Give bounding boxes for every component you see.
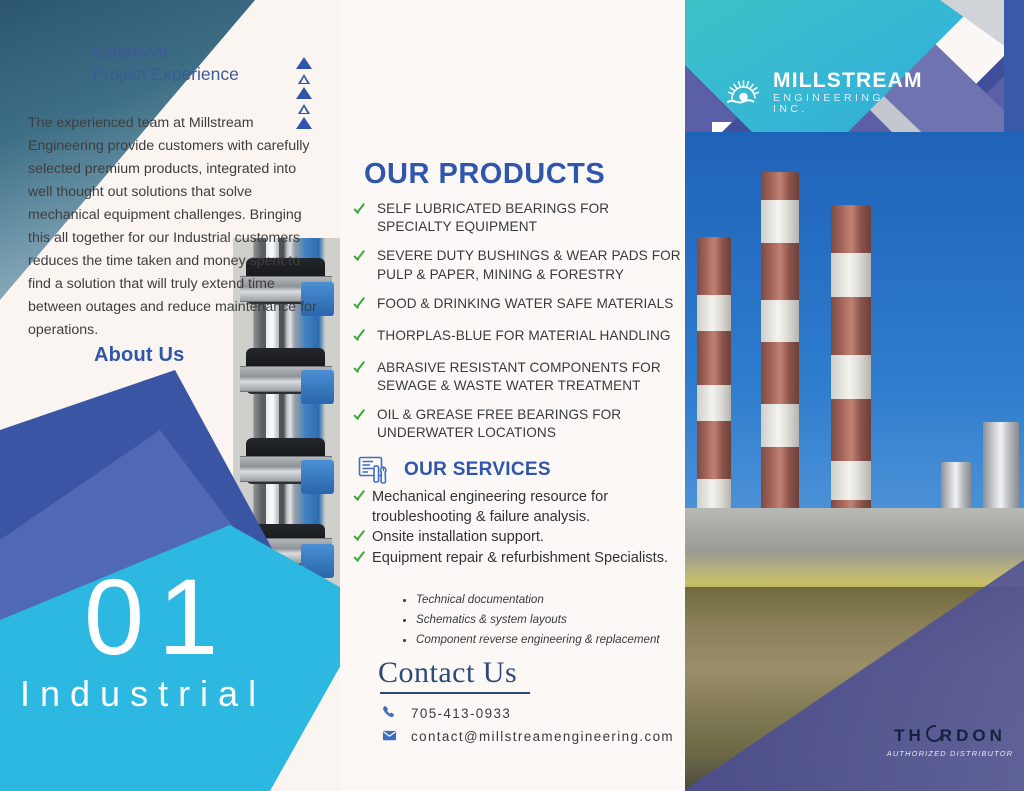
thordon-logo: TH RDON AUTHORIZED DISTRIBUTOR [886, 726, 1014, 758]
our-products-heading: OUR PRODUCTS [364, 158, 605, 191]
list-item: SEVERE DUTY BUSHINGS & WEAR PADS FOR PUL… [352, 247, 687, 283]
partner-name: TH RDON [886, 726, 1014, 746]
triangle-filled-icon [296, 117, 312, 129]
product-label: THORPLAS-BLUE FOR MATERIAL HANDLING [377, 327, 671, 345]
email-address: contact@millstreamengineering.com [411, 727, 674, 746]
about-us-heading: About Us [94, 344, 184, 367]
check-icon [352, 408, 369, 427]
envelope-icon [382, 728, 397, 743]
page-title-line1: Extensive [92, 40, 322, 63]
product-label: ABRASIVE RESISTANT COMPONENTS FOR SEWAGE… [377, 359, 687, 395]
phone-number: 705-413-0933 [411, 704, 511, 723]
section-label: Industrial [20, 673, 266, 715]
list-item: ABRASIVE RESISTANT COMPONENTS FOR SEWAGE… [352, 359, 687, 395]
product-label: SELF LUBRICATED BEARINGS FOR SPECIALTY E… [377, 200, 687, 236]
list-item: Mechanical engineering resource for trou… [352, 487, 682, 527]
products-list: SELF LUBRICATED BEARINGS FOR SPECIALTY E… [352, 200, 687, 454]
list-item: OIL & GREASE FREE BEARINGS FOR UNDERWATE… [352, 406, 687, 442]
partner-name-before: TH [894, 726, 925, 746]
phone-icon [382, 705, 397, 720]
check-icon [352, 329, 369, 348]
services-list: Mechanical engineering resource for trou… [352, 487, 682, 569]
check-icon [352, 297, 369, 316]
page-title-line2: Project Experience [92, 63, 322, 86]
list-item: Technical documentation [416, 590, 660, 610]
service-label: Onsite installation support. [372, 527, 544, 547]
service-label: Equipment repair & refurbishment Special… [372, 548, 668, 568]
list-item: Schematics & system layouts [416, 610, 660, 630]
list-item: Equipment repair & refurbishment Special… [352, 548, 682, 569]
partner-subtitle: AUTHORIZED DISTRIBUTOR [886, 749, 1014, 758]
logo-subtitle: ENGINEERING INC. [773, 93, 923, 114]
section-number: 01 [84, 563, 232, 671]
product-label: SEVERE DUTY BUSHINGS & WEAR PADS FOR PUL… [377, 247, 687, 283]
blueprint-tools-icon [358, 455, 390, 485]
product-label: OIL & GREASE FREE BEARINGS FOR UNDERWATE… [377, 406, 687, 442]
check-icon [352, 202, 369, 221]
triangle-decor-navy [296, 57, 312, 129]
plant-structures-band [683, 508, 1024, 594]
check-icon [352, 489, 369, 508]
contact-email-row[interactable]: contact@millstreamengineering.com [382, 727, 674, 746]
triangle-filled-icon [296, 87, 312, 99]
page-title: Extensive Project Experience [92, 40, 322, 86]
service-sub-bullets: Technical documentation Schematics & sys… [402, 590, 660, 651]
check-icon [352, 361, 369, 380]
triangle-filled-icon [296, 57, 312, 69]
contact-heading: Contact Us [378, 656, 517, 690]
mill-wheel-icon [726, 75, 766, 109]
list-item: SELF LUBRICATED BEARINGS FOR SPECIALTY E… [352, 200, 687, 236]
list-item: FOOD & DRINKING WATER SAFE MATERIALS [352, 295, 687, 316]
brochure-page: Extensive Project Experience The experie… [0, 0, 1024, 791]
service-label: Mechanical engineering resource for trou… [372, 487, 682, 527]
logo-name: MILLSTREAM [773, 70, 923, 91]
triangle-outline-icon [296, 102, 312, 114]
product-label: FOOD & DRINKING WATER SAFE MATERIALS [377, 295, 673, 313]
list-item: THORPLAS-BLUE FOR MATERIAL HANDLING [352, 327, 687, 348]
contact-divider [380, 692, 530, 694]
millstream-logo: MILLSTREAM ENGINEERING INC. [726, 70, 916, 114]
contact-phone-row[interactable]: 705-413-0933 [382, 704, 511, 723]
our-services-header: OUR SERVICES [358, 455, 551, 485]
check-icon [352, 249, 369, 268]
right-edge-blue-sliver [1004, 0, 1024, 140]
our-services-heading: OUR SERVICES [404, 459, 551, 481]
about-paragraph: The experienced team at Millstream Engin… [28, 112, 318, 342]
list-item: Onsite installation support. [352, 527, 682, 548]
triangle-outline-icon [296, 72, 312, 84]
partner-name-after: RDON [940, 726, 1006, 746]
list-item: Component reverse engineering & replacem… [416, 630, 660, 650]
check-icon [352, 550, 369, 569]
check-icon [352, 529, 369, 548]
